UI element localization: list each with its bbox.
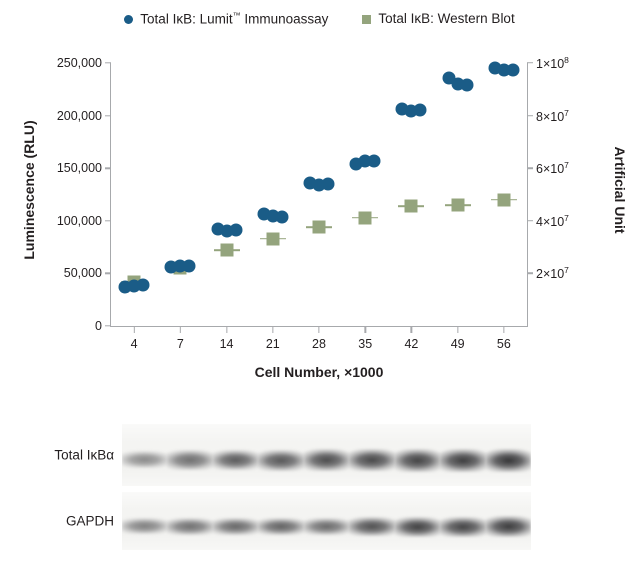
blot-lane — [258, 424, 303, 486]
figure-root: Total IκB: Lumit™ Immunoassay Total IκB:… — [0, 0, 639, 570]
blot-lane — [486, 424, 531, 486]
data-point-lumit-immunoassay — [368, 154, 381, 167]
chart-legend: Total IκB: Lumit™ Immunoassay Total IκB:… — [0, 6, 639, 32]
blot-lane — [440, 424, 485, 486]
data-point-western-blot — [405, 200, 418, 213]
data-point-lumit-immunoassay — [275, 210, 288, 223]
x-axis-tick: 56 — [497, 326, 511, 351]
data-point-lumit-immunoassay — [506, 64, 519, 77]
total-ikba-blot-image — [122, 424, 531, 486]
y-axis-left-tick: 100,000 — [57, 214, 111, 228]
blot-band — [167, 518, 212, 535]
x-axis-title: Cell Number, ×1000 — [110, 364, 528, 380]
plot-inner: 050,000100,000150,000200,000250,0002×107… — [111, 63, 527, 326]
y-axis-right-tick: 4×107 — [527, 213, 569, 229]
data-point-lumit-immunoassay — [322, 177, 335, 190]
x-axis-tick: 4 — [131, 326, 138, 351]
blot-lane — [395, 492, 440, 550]
y-axis-left-tick: 0 — [95, 319, 111, 333]
scatter-chart: Luminescence (RLU) Artificial Unit Cell … — [0, 34, 639, 390]
plot-area: 050,000100,000150,000200,000250,0002×107… — [110, 62, 528, 327]
data-point-lumit-immunoassay — [460, 79, 473, 92]
blot-band — [258, 450, 303, 471]
blot-band — [258, 518, 303, 536]
gapdh-label: GAPDH — [66, 514, 114, 529]
y-axis-left-tick: 50,000 — [64, 266, 111, 280]
x-axis-tick: 14 — [220, 326, 234, 351]
data-point-lumit-immunoassay — [183, 259, 196, 272]
data-point-western-blot — [359, 211, 372, 224]
blot-lane — [440, 492, 485, 550]
gapdh-blot: GAPDH — [0, 492, 639, 550]
legend-square-marker-icon — [362, 15, 371, 24]
blot-lane — [349, 424, 394, 486]
blot-lane — [213, 492, 258, 550]
blot-band — [395, 517, 440, 537]
x-axis-tick: 21 — [266, 326, 280, 351]
blot-band — [486, 516, 531, 537]
blot-band — [122, 518, 167, 533]
blot-lane — [213, 424, 258, 486]
blot-lane — [486, 492, 531, 550]
x-axis-tick: 42 — [404, 326, 418, 351]
legend-item-western-blot: Total IκB: Western Blot — [362, 12, 514, 26]
x-axis-tick: 28 — [312, 326, 326, 351]
x-axis-tick: 7 — [177, 326, 184, 351]
y-axis-left-tick: 200,000 — [57, 109, 111, 123]
blot-band — [440, 517, 485, 537]
blot-lane — [258, 492, 303, 550]
blot-lane — [122, 424, 167, 486]
y-axis-right-title: Artificial Unit — [612, 75, 628, 305]
blot-band — [122, 451, 167, 468]
data-point-western-blot — [451, 199, 464, 212]
total-ikba-blot: Total IκBα — [0, 424, 639, 486]
legend-label-lumit-immunoassay: Total IκB: Lumit™ Immunoassay — [140, 12, 328, 26]
blot-band — [167, 450, 212, 469]
x-axis-tick: 49 — [451, 326, 465, 351]
y-axis-right-tick: 2×107 — [527, 265, 569, 281]
total-ikba-label-box: Total IκBα — [0, 424, 114, 486]
data-point-western-blot — [266, 232, 279, 245]
data-point-lumit-immunoassay — [229, 224, 242, 237]
blot-band — [440, 449, 485, 472]
y-axis-left-tick: 150,000 — [57, 161, 111, 175]
blot-lane — [395, 424, 440, 486]
data-point-lumit-immunoassay — [414, 104, 427, 117]
y-axis-left-tick: 250,000 — [57, 56, 111, 70]
blot-band — [304, 518, 349, 535]
blot-lane — [122, 492, 167, 550]
blot-band — [304, 449, 349, 471]
y-axis-right-tick: 8×107 — [527, 108, 569, 124]
legend-item-lumit-immunoassay: Total IκB: Lumit™ Immunoassay — [124, 12, 328, 26]
blot-lane — [304, 492, 349, 550]
total-ikba-label: Total IκBα — [54, 448, 114, 463]
blot-band — [213, 450, 258, 471]
legend-label-western-blot: Total IκB: Western Blot — [378, 12, 514, 26]
data-point-western-blot — [313, 221, 326, 234]
blot-band — [213, 518, 258, 535]
legend-circle-marker-icon — [124, 15, 133, 24]
data-point-lumit-immunoassay — [137, 279, 150, 292]
data-point-western-blot — [220, 244, 233, 257]
gapdh-label-box: GAPDH — [0, 492, 114, 550]
blot-band — [349, 449, 394, 471]
blot-lane — [304, 424, 349, 486]
blot-band — [395, 449, 440, 472]
blot-lane — [349, 492, 394, 550]
blot-band — [349, 517, 394, 536]
blot-band — [486, 449, 531, 473]
y-axis-left-title: Luminescence (RLU) — [21, 75, 37, 305]
y-axis-right-tick: 6×107 — [527, 160, 569, 176]
y-axis-right-tick: 1×108 — [527, 55, 569, 71]
blot-lane — [167, 424, 212, 486]
data-point-western-blot — [497, 193, 510, 206]
x-axis-tick: 35 — [358, 326, 372, 351]
blot-lane — [167, 492, 212, 550]
gapdh-blot-image — [122, 492, 531, 550]
